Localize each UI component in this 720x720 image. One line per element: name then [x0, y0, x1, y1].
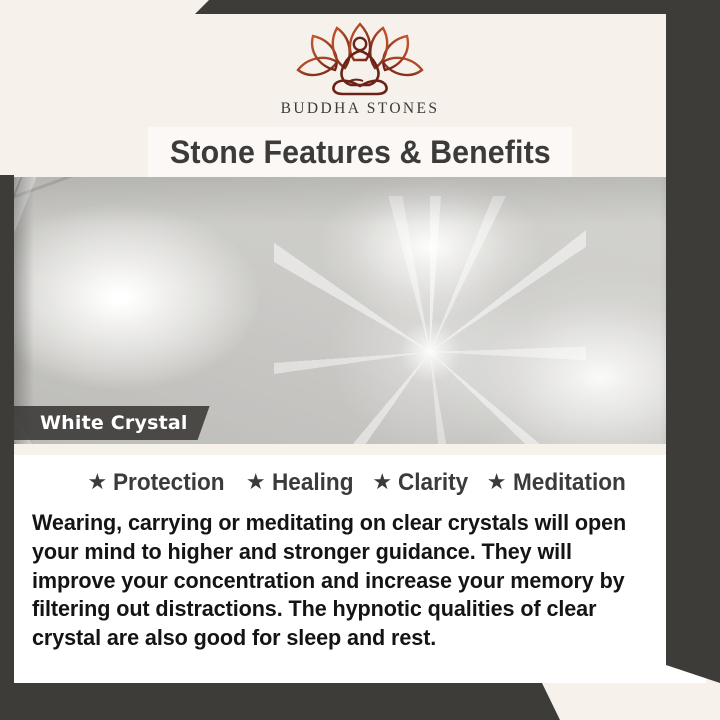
star-icon: ★ — [487, 471, 507, 493]
frame-top-accent — [195, 0, 720, 14]
brand-logo: BUDDHA STONES — [0, 22, 720, 118]
description-text: Wearing, carrying or meditating on clear… — [32, 509, 660, 653]
benefit-item-healing: ★ Healing — [246, 469, 358, 497]
title-banner: Stone Features & Benefits — [148, 127, 572, 177]
stone-name-label: White Crystal — [40, 412, 188, 434]
benefit-label: Clarity — [398, 469, 468, 497]
benefit-item-protection: ★ Protection — [87, 469, 231, 497]
photo-seam — [14, 444, 706, 455]
benefit-item-clarity: ★ Clarity — [372, 469, 472, 497]
benefit-label: Healing — [272, 469, 353, 497]
benefit-label: Meditation — [513, 469, 626, 497]
page-title: Stone Features & Benefits — [170, 134, 551, 171]
brand-name: BUDDHA STONES — [281, 100, 440, 118]
content-card: ★ Protection ★ Healing ★ Clarity ★ Medit… — [14, 455, 706, 683]
frame-left-accent — [0, 175, 14, 720]
star-icon: ★ — [87, 471, 107, 493]
frame-bottom-accent — [0, 683, 560, 720]
lotus-meditation-icon — [285, 22, 435, 96]
benefits-list: ★ Protection ★ Healing ★ Clarity ★ Medit… — [14, 455, 706, 497]
frame-right-accent — [666, 0, 720, 683]
star-icon: ★ — [372, 471, 392, 493]
benefit-item-meditation: ★ Meditation — [487, 469, 633, 497]
star-icon: ★ — [246, 471, 266, 493]
benefit-label: Protection — [113, 469, 225, 497]
hero-vignette — [0, 177, 720, 444]
stone-info-poster: BUDDHA STONES Stone Features & Benefits … — [0, 0, 720, 720]
stone-name-badge: White Crystal — [14, 406, 210, 440]
hero-image — [0, 177, 720, 444]
